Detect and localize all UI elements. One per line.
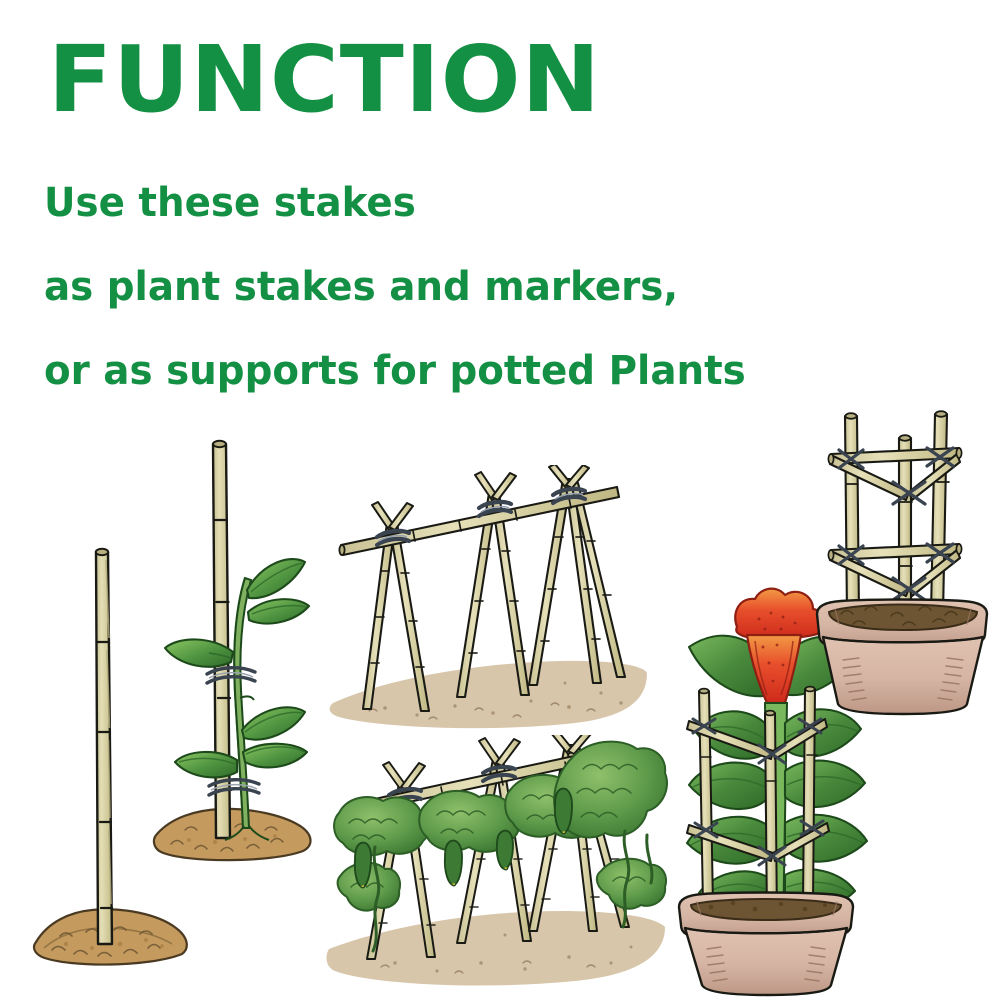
- soil-mound: [154, 809, 311, 860]
- plant-pot: [817, 600, 987, 715]
- empty-pot-with-bamboo-cage: [795, 398, 1001, 750]
- description-line-3: or as supports for potted Plants: [44, 351, 917, 391]
- description-line-1: Use these stakes: [44, 183, 917, 223]
- description-line-2: as plant stakes and markers,: [44, 267, 917, 307]
- a-frame-bamboo-trellis: [325, 465, 650, 735]
- plant-tie-upper: [207, 668, 255, 683]
- trellis-with-climbing-vines: [325, 735, 670, 997]
- infographic-page: FUNCTION Use these stakes as plant stake…: [0, 0, 1001, 1001]
- seedling-tied-to-stake: [145, 430, 340, 880]
- description-text-block: Use these stakes as plant stakes and mar…: [44, 183, 944, 391]
- bamboo-cane: [96, 549, 112, 944]
- page-title: FUNCTION: [48, 34, 601, 126]
- plant-tie-lower: [209, 780, 259, 795]
- plant-pot: [679, 893, 853, 996]
